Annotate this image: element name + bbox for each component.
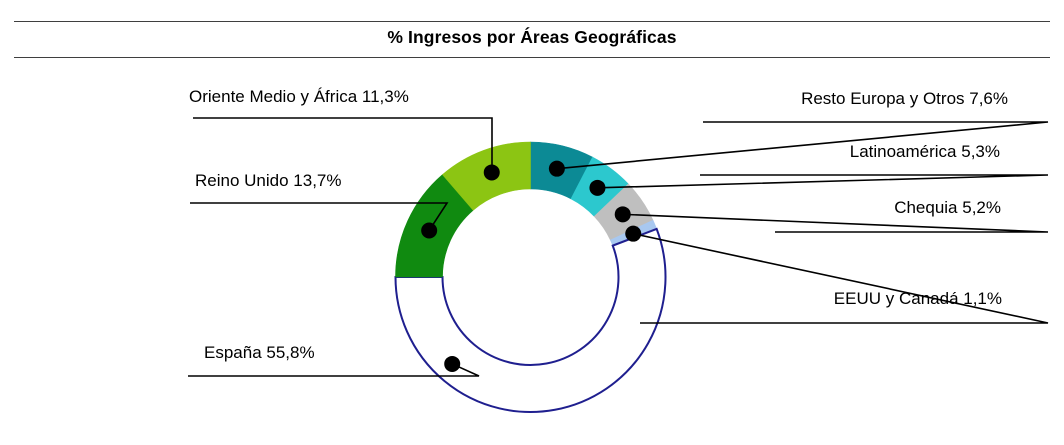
leader-line-oriente-medio (193, 118, 492, 172)
leader-dot-espana (444, 356, 460, 372)
chart-page: % Ingresos por Áreas Geográficas Oriente… (0, 0, 1064, 445)
callout-label-eeuu-canada: EEUU y Canadá 1,1% (834, 290, 1002, 309)
leader-dot-eeuu-canada (625, 226, 641, 242)
callout-label-oriente-medio: Oriente Medio y África 11,3% (189, 88, 409, 107)
leader-line-latinoamerica (597, 175, 1048, 188)
leader-dot-reino-unido (421, 222, 437, 238)
callout-label-reino-unido: Reino Unido 13,7% (195, 172, 341, 191)
callout-label-resto-europa: Resto Europa y Otros 7,6% (801, 90, 1008, 109)
donut-slices (396, 142, 666, 412)
callout-label-latinoamerica: Latinoamérica 5,3% (850, 143, 1000, 162)
callout-label-espana: España 55,8% (204, 344, 315, 363)
leader-dot-latinoamerica (589, 180, 605, 196)
leader-dot-oriente-medio (484, 164, 500, 180)
callout-label-chequia: Chequia 5,2% (894, 199, 1001, 218)
leader-dot-chequia (615, 206, 631, 222)
donut-chart (0, 0, 1064, 445)
leader-line-eeuu-canada (633, 234, 1048, 323)
leader-dot-resto-europa (549, 161, 565, 177)
